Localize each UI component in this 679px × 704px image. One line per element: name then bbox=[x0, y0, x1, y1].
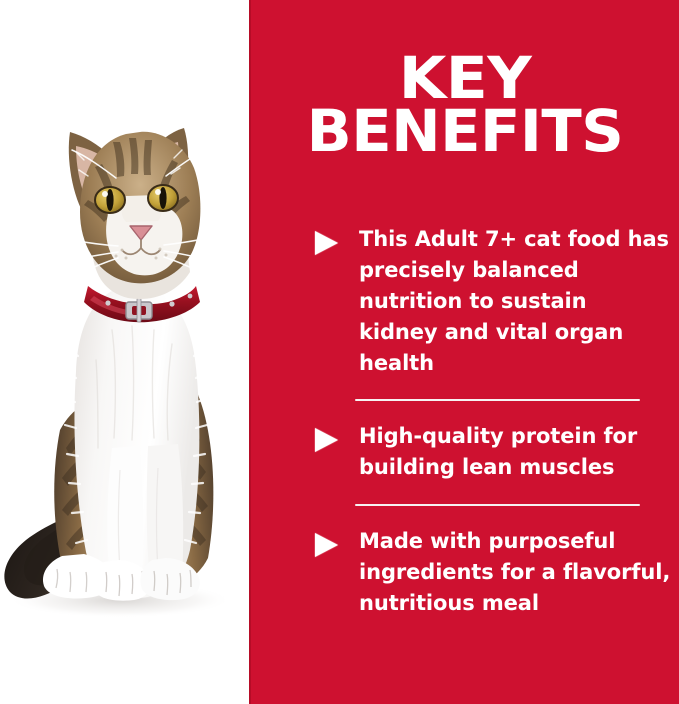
benefit-divider bbox=[355, 399, 640, 401]
triangle-right-icon bbox=[315, 231, 338, 255]
cat-photo-panel bbox=[0, 0, 249, 704]
benefit-list: This Adult 7+ cat food has precisely bal… bbox=[251, 224, 679, 619]
benefit-item: This Adult 7+ cat food has precisely bal… bbox=[251, 224, 679, 379]
cat-photo bbox=[0, 0, 249, 704]
title-line-benefits: BENEFITS bbox=[247, 105, 679, 158]
benefit-text: High-quality protein for building lean m… bbox=[359, 421, 671, 483]
benefit-text: This Adult 7+ cat food has precisely bal… bbox=[359, 224, 671, 379]
benefits-panel: KEY BENEFITS This Adult 7+ cat food has … bbox=[249, 0, 679, 704]
benefit-item: High-quality protein for building lean m… bbox=[251, 421, 679, 483]
benefit-item: Made with purposeful ingredients for a f… bbox=[251, 526, 679, 619]
key-benefits-poster: KEY BENEFITS This Adult 7+ cat food has … bbox=[0, 0, 679, 704]
page-title: KEY BENEFITS bbox=[251, 52, 679, 159]
triangle-right-icon bbox=[315, 428, 338, 452]
triangle-right-icon bbox=[315, 533, 338, 557]
benefit-divider bbox=[355, 504, 640, 506]
benefit-text: Made with purposeful ingredients for a f… bbox=[359, 526, 671, 619]
